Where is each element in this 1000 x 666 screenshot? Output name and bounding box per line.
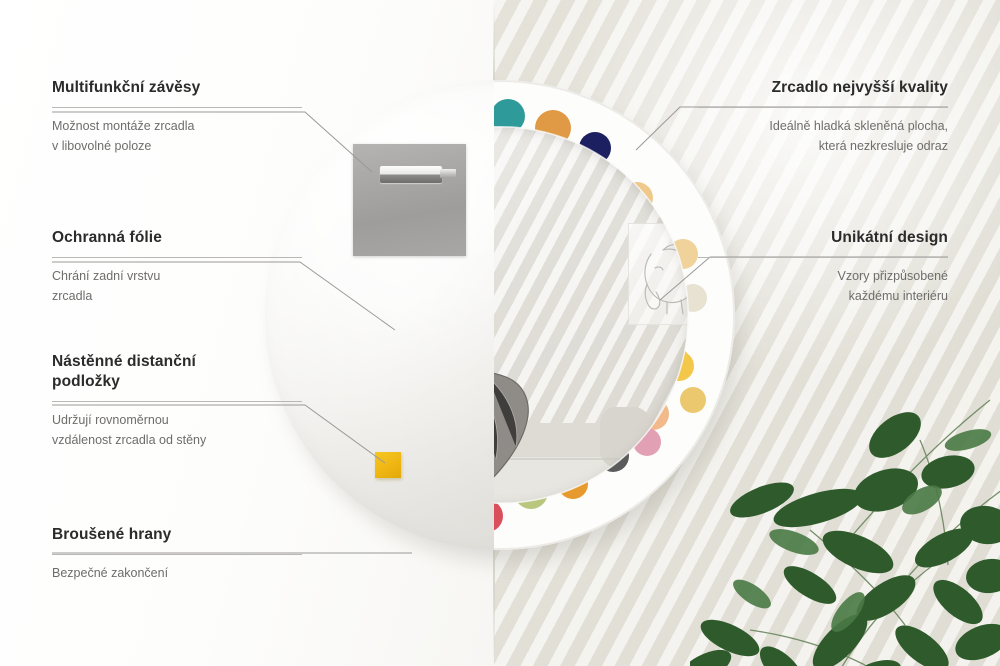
callout-title: Zrcadlo nejvyšší kvality bbox=[698, 78, 948, 98]
callout-desc-line: Bezpečné zakončení bbox=[52, 564, 302, 583]
callout-desc-line: zrcadla bbox=[52, 287, 302, 306]
callout-rule bbox=[52, 554, 302, 555]
plant-foliage bbox=[690, 380, 1000, 666]
callout-desc: Vzory přizpůsobené každému interiéru bbox=[698, 267, 948, 306]
callout-desc: Možnost montáže zrcadla v libovolné polo… bbox=[52, 117, 302, 156]
hanger-plate bbox=[353, 144, 466, 256]
callout-desc-line: každému interiéru bbox=[698, 287, 948, 306]
callout-protective-foil: Ochranná fólie Chrání zadní vrstvu zrcad… bbox=[52, 228, 302, 306]
callout-title: Broušené hrany bbox=[52, 525, 302, 545]
callout-desc: Udržují rovnoměrnou vzdálenost zrcadla o… bbox=[52, 411, 302, 450]
infographic-stage: Multifunkční závěsy Možnost montáže zrca… bbox=[0, 0, 1000, 666]
callout-desc-line: vzdálenost zrcadla od stěny bbox=[52, 431, 302, 450]
callout-wall-spacers: Nástěnné distanční podložky Udržují rovn… bbox=[52, 352, 302, 450]
callout-rule bbox=[52, 257, 302, 258]
round-mirror bbox=[265, 80, 735, 550]
callout-rule bbox=[52, 107, 302, 108]
callout-rule bbox=[698, 107, 948, 108]
callout-top-quality-mirror: Zrcadlo nejvyšší kvality Ideálně hladká … bbox=[698, 78, 948, 156]
hanger-slot bbox=[380, 166, 442, 183]
callout-title: Multifunkční závěsy bbox=[52, 78, 302, 98]
callout-desc-line: v libovolné poloze bbox=[52, 137, 302, 156]
callout-desc: Ideálně hladká skleněná plocha, která ne… bbox=[698, 117, 948, 156]
wall-spacer-pad bbox=[375, 452, 401, 478]
callout-rule bbox=[52, 401, 302, 402]
callout-rule bbox=[698, 257, 948, 258]
callout-unique-design: Unikátní design Vzory přizpůsobené každé… bbox=[698, 228, 948, 306]
callout-desc-line: která nezkresluje odraz bbox=[698, 137, 948, 156]
callout-desc-line: Udržují rovnoměrnou bbox=[52, 411, 302, 430]
callout-title: Ochranná fólie bbox=[52, 228, 302, 248]
callout-title: Nástěnné distanční podložky bbox=[52, 352, 242, 392]
callout-desc-line: Vzory přizpůsobené bbox=[698, 267, 948, 286]
callout-multifunctional-hangers: Multifunkční závěsy Možnost montáže zrca… bbox=[52, 78, 302, 156]
callout-desc: Chrání zadní vrstvu zrcadla bbox=[52, 267, 302, 306]
callout-desc-line: Možnost montáže zrcadla bbox=[52, 117, 302, 136]
callout-title: Unikátní design bbox=[698, 228, 948, 248]
callout-ground-edges: Broušené hrany Bezpečné zakončení bbox=[52, 525, 302, 584]
callout-desc-line: Chrání zadní vrstvu bbox=[52, 267, 302, 286]
callout-desc: Bezpečné zakončení bbox=[52, 564, 302, 583]
callout-desc-line: Ideálně hladká skleněná plocha, bbox=[698, 117, 948, 136]
